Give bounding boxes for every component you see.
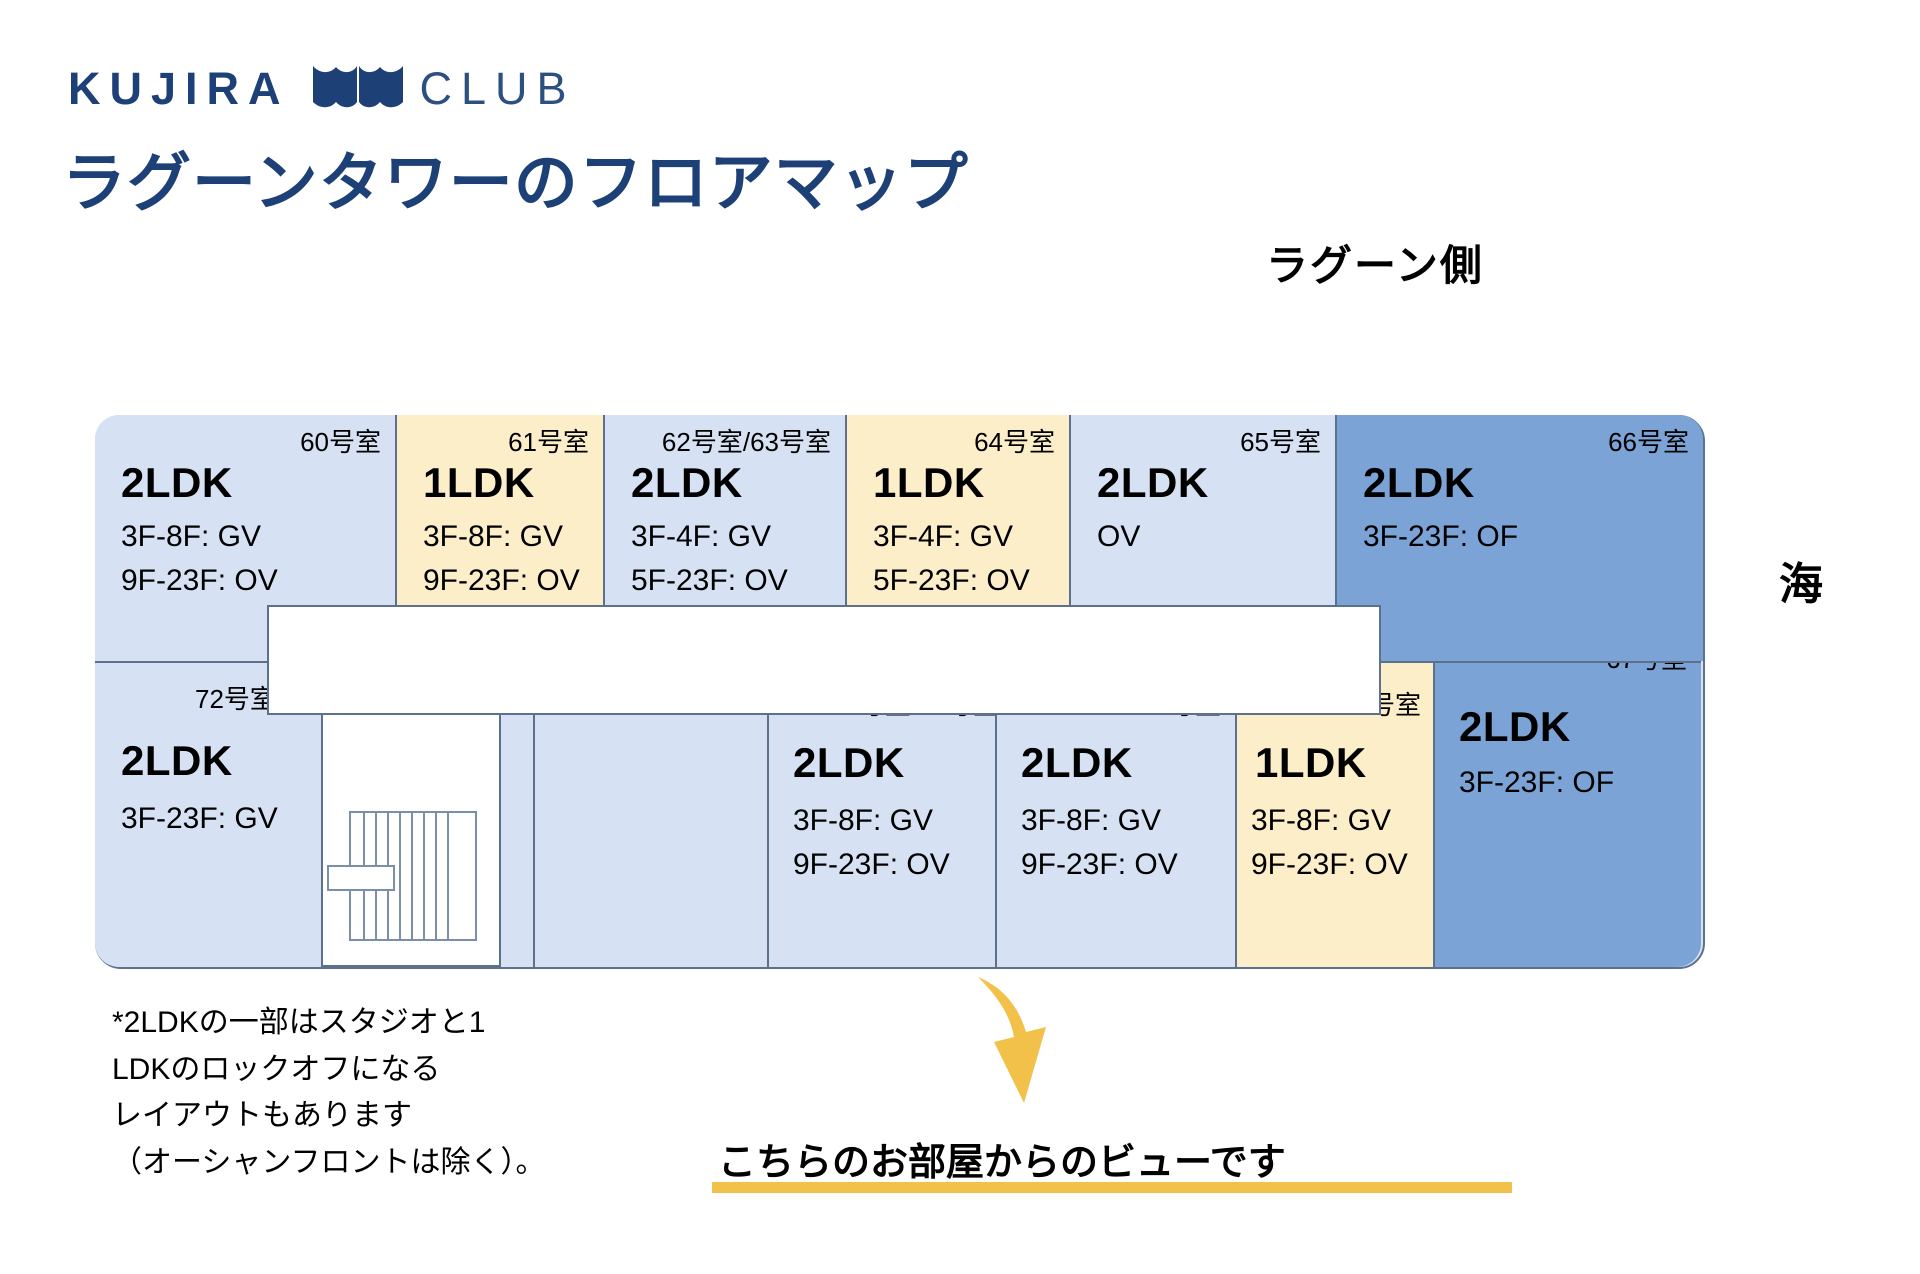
room-spec-line: 3F-8F: GV [793,799,950,843]
whale-book-mark-icon [312,62,404,115]
room-spec-line: 3F-23F: GV [121,797,278,841]
room-type: 2LDK [1021,739,1133,787]
room-spec-line: 3F-8F: GV [1021,799,1178,843]
room-spec-line: 5F-23F: OV [873,559,1030,603]
brand-wordmark: KUJIRA [68,66,290,111]
room-specs: 3F-4F: GV 5F-23F: OV [873,515,1030,602]
room-number: 64号室 [974,422,1055,459]
floorplan: 60号室 2LDK 3F-8F: GV 9F-23F: OV 61号室 1LDK… [95,415,1705,969]
room-specs: 3F-8F: GV 9F-23F: OV [1251,799,1408,886]
room-spec-line: 9F-23F: OV [423,559,580,603]
room-66[interactable]: 66号室 2LDK 3F-23F: OF [1337,415,1703,661]
room-type: 2LDK [121,459,233,507]
room-type: 2LDK [793,739,905,787]
room-number: 61号室 [508,422,589,459]
room-specs: OV [1097,515,1140,559]
room-specs: 3F-8F: GV 9F-23F: OV [793,799,950,886]
page-title: ラグーンタワーのフロアマップ [62,132,969,224]
room-spec-line: 3F-4F: GV [873,515,1030,559]
footnote-text: *2LDKの一部はスタジオと1 LDKのロックオフになる レイアウトもあります … [112,1000,546,1186]
room-specs: 3F-23F: OF [1363,515,1518,559]
corridor-hall [267,605,1381,715]
staircase [321,715,501,967]
room-type: 2LDK [631,459,743,507]
room-number: 65号室 [1240,422,1321,459]
room-number: 72号室 [195,679,276,716]
room-specs: 3F-8F: GV 9F-23F: OV [121,515,278,602]
room-specs: 3F-8F: GV 9F-23F: OV [1021,799,1178,886]
room-specs: 3F-8F: GV 9F-23F: OV [423,515,580,602]
label-sea: 海 [1779,548,1823,612]
room-type: 2LDK [1363,459,1475,507]
room-spec-line: 3F-4F: GV [631,515,788,559]
room-spec-line: 3F-8F: GV [423,515,580,559]
room-type: 1LDK [423,459,535,507]
stair-landing [327,865,395,891]
room-spec-line: 9F-23F: OV [121,559,278,603]
room-number: 62号室/63号室 [662,422,831,459]
room-specs: 3F-23F: OF [1459,761,1614,805]
view-caption: こちらのお部屋からのビューです [718,1131,1286,1186]
label-lagoon-side: ラグーン側 [1266,232,1484,293]
room-spec-line: 3F-8F: GV [1251,799,1408,843]
arrow-up-icon [960,975,1056,1110]
room-spec-line: 5F-23F: OV [631,559,788,603]
room-spec-line: 9F-23F: OV [793,843,950,887]
room-specs: 3F-4F: GV 5F-23F: OV [631,515,788,602]
room-type: 1LDK [1255,739,1367,787]
room-spec-line: 9F-23F: OV [1251,843,1408,887]
room-spec-line: 9F-23F: OV [1021,843,1178,887]
room-specs: 3F-23F: GV [121,797,278,841]
room-number: 60号室 [300,422,381,459]
room-type: 1LDK [873,459,985,507]
room-67[interactable]: 67号室 2LDK 3F-23F: OF [1435,663,1701,967]
room-spec-line: 3F-23F: OF [1363,515,1518,559]
room-number: 66号室 [1608,422,1689,459]
floor-map-page: KUJIRA CLUB ラグーンタワーのフロアマップ ラグーン側 アラモアナ側 … [0,0,1920,1274]
room-spec-line: 3F-8F: GV [121,515,278,559]
room-spec-line: OV [1097,515,1140,559]
room-type: 2LDK [121,737,233,785]
room-spec-line: 3F-23F: OF [1459,761,1614,805]
brand-logo: KUJIRA CLUB [68,62,576,115]
room-type: 2LDK [1459,703,1571,751]
room-number: 67号室 [1606,663,1687,676]
room-type: 2LDK [1097,459,1209,507]
brand-club-text: CLUB [420,66,576,111]
